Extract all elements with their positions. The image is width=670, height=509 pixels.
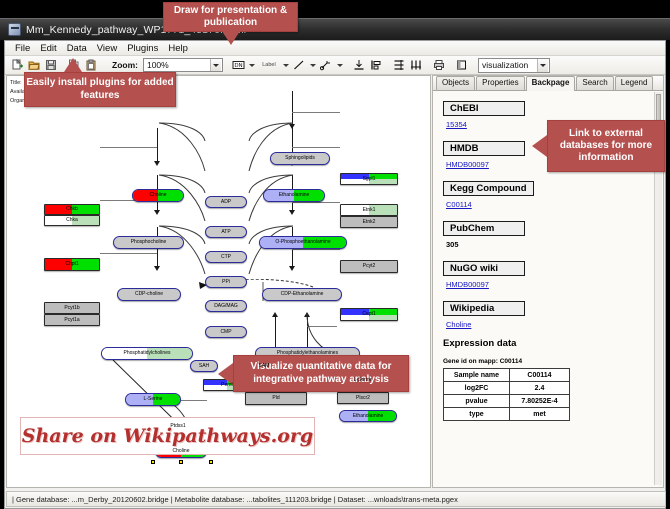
menu-item-data[interactable]: Data [62,42,92,55]
tab-properties[interactable]: Properties [476,76,524,90]
expression-value: 7.80252E-4 [510,395,570,408]
database-link[interactable]: Choline [446,320,663,329]
callout-plugins-arrow [64,58,82,72]
metabolite-label: SAM [259,364,270,369]
expression-table: Sample nameC00114log2FC2.4pvalue7.80252E… [443,368,570,421]
app-icon [8,23,21,36]
edge-chk-to-backbone [100,147,157,148]
align-left-icon[interactable] [369,58,384,73]
metabolite-node[interactable]: CTP [205,251,247,263]
gene-node[interactable]: Etnk2 [340,216,398,228]
status-bar: | Gene database: ...m_Derby_20120602.bri… [6,491,666,507]
open-file-icon[interactable] [26,58,41,73]
gene-node[interactable]: Cept1 [340,308,398,321]
datanode-icon[interactable]: DN [231,58,246,73]
metabolite-label: SAH [199,364,209,369]
gene-node[interactable]: Pld [245,392,307,405]
gene-label: Pcyt2 [363,264,376,269]
zoom-label: Zoom: [112,60,138,70]
line-tool-icon[interactable] [292,58,307,73]
canvas-info-title: Title: [10,80,22,86]
metabolite-label: Choline [150,193,167,198]
table-row: typemet [444,408,570,421]
gene-label: Chka [66,218,78,223]
database-link[interactable]: C00114 [446,200,663,209]
metabolite-node[interactable]: Phosphatidylcholines [101,347,193,360]
callout-plugins: Easily install plugins for added feature… [24,72,176,107]
expression-key: type [444,408,510,421]
edge-pcyt1-to-backbone [100,253,157,254]
chevron-down-icon[interactable] [210,59,221,71]
status-bar-text: | Gene database: ...m_Derby_20120602.bri… [12,495,458,504]
edge-pcyt2-to-backbone [292,202,340,203]
metabolite-node[interactable]: ATP [205,226,247,238]
menu-item-edit[interactable]: Edit [35,42,61,55]
menu-item-file[interactable]: File [10,42,35,55]
edge-lserine-out [181,400,207,401]
gene-label: Sgpl1 [363,177,376,182]
metabolite-node[interactable]: SAH [190,360,218,372]
gene-label: Chkb [66,207,78,212]
gene-node[interactable]: Plscr2 [337,392,389,404]
metabolite-label: Choline [173,449,190,454]
zoom-value: 100% [147,60,169,70]
gene-node[interactable]: Pcyt2 [340,260,398,273]
sidebar-toggle-icon[interactable] [455,58,470,73]
gene-id-line: Gene id on mapp: C00114 [443,358,663,365]
tab-objects[interactable]: Objects [436,76,475,90]
table-row: Sample nameC00114 [444,369,570,382]
metabolite-label: PPi [222,280,230,285]
expression-value: 2.4 [510,382,570,395]
metabolite-label: DAG/MAG [214,304,238,309]
expression-value: C00114 [510,369,570,382]
distribute-vertical-icon[interactable] [392,58,407,73]
edge-etnk-to-backbone [292,147,340,148]
table-row: pvalue7.80252E-4 [444,395,570,408]
menu-item-view[interactable]: View [92,42,122,55]
gene-node[interactable]: Pcyt1a [44,314,100,326]
anchor-dropdown-icon[interactable] [336,58,344,72]
print-icon[interactable] [432,58,447,73]
label-dropdown-icon[interactable] [282,58,290,72]
line-dropdown-icon[interactable] [309,58,317,72]
callout-link: Link to external databases for more info… [547,120,665,172]
metabolite-label: L-Serine [354,378,373,383]
metabolite-node[interactable]: CDP-choline [117,288,181,301]
chevron-down-icon-2[interactable] [537,59,548,72]
gene-node[interactable]: Chpt1 [44,258,100,271]
menu-item-help[interactable]: Help [163,42,193,55]
expression-key: log2FC [444,382,510,395]
metabolite-node[interactable]: Sphingolipids [270,152,330,165]
metabolite-label: Phosphatidylethanolamines [277,351,338,356]
gene-label: Pcyt1a [64,318,79,323]
expression-value: met [510,408,570,421]
tab-search[interactable]: Search [576,76,613,90]
gene-node[interactable]: Pcyt1b [44,302,100,314]
metabolite-node[interactable]: ADP [205,196,247,208]
distribute-horizontal-icon[interactable] [409,58,424,73]
metabolite-label: L-Serine [144,397,163,402]
metabolite-node[interactable]: Ethanolamine [339,410,397,422]
database-label: NuGO wiki [443,261,525,276]
metabolite-label: Phosphocholine [131,240,167,245]
paste-icon[interactable] [83,58,98,73]
metabolite-node[interactable]: O-Phosphoethanolamine [259,236,347,249]
metabolite-node[interactable]: Ethanolamine [263,189,325,202]
tab-legend[interactable]: Legend [615,76,654,90]
canvas-info-availability: Availa [10,89,25,95]
anchor-tool-icon[interactable] [319,58,334,73]
zoom-combobox[interactable]: 100% [143,58,223,72]
metabolite-node[interactable]: DAG/MAG [205,300,247,312]
database-label: Kegg Compound [443,181,534,196]
resize-handle[interactable] [179,460,183,464]
gene-label: Plscr2 [356,396,370,401]
menubar: File Edit Data View Plugins Help [5,41,665,56]
metabolite-label: ATP [221,230,230,235]
expression-key: Sample name [444,369,510,382]
gene-node[interactable]: Chka [44,215,100,226]
metabolite-label: CDP-choline [135,292,163,297]
metabolite-node[interactable]: PPi [205,276,247,288]
datanode-dropdown-icon[interactable] [248,58,256,72]
visualization-value: visualization [482,60,528,70]
metabolite-label: O-Phosphoethanolamine [275,240,330,245]
label-tool-icon[interactable]: Label [258,58,280,73]
resize-handle[interactable] [209,460,213,464]
gene-label: Etnk2 [363,220,376,225]
gene-label: Pld [272,396,279,401]
gene-label: Pcyt1b [64,306,79,311]
metabolite-node[interactable]: CDP-Ethanolamine [262,288,342,301]
metabolite-label: Ethanolamine [353,414,384,419]
visualization-combobox[interactable]: visualization [478,58,550,73]
metabolite-label: Ethanolamine [279,193,310,198]
tab-backpage[interactable]: Backpage [526,76,576,91]
arrow-pe-up [272,312,278,317]
edge-sgpl1-to-backbone [292,112,340,113]
gene-node[interactable]: Etnk1 [340,204,398,216]
metabolite-label: ADP [221,200,231,205]
gene-node[interactable]: Sgpl1 [340,173,398,185]
table-row: log2FC2.4 [444,382,570,395]
gene-label: Chpt1 [65,262,78,267]
metabolite-label: CMP [220,330,231,335]
resize-handle[interactable] [151,460,155,464]
database-label: PubChem [443,221,525,236]
expression-data-heading: Expression data [443,338,663,349]
svg-text:DN: DN [234,63,242,69]
save-file-icon[interactable] [43,58,58,73]
side-panel-tabs: Objects Properties Backpage Search Legen… [433,76,663,91]
database-label: Wikipedia [443,301,525,316]
callout-draw-arrow [222,31,240,45]
callout-visualize: Visualize quantitative data for integrat… [233,355,409,392]
gene-node[interactable]: Chkb [44,204,100,215]
edge-cept1-to-backbone [292,249,340,250]
share-text: Share on Wikipathways.org [22,425,313,447]
database-label: HMDB [443,141,525,156]
metabolite-node[interactable]: L-Serine [125,393,181,406]
expression-key: pvalue [444,395,510,408]
window-titlebar: Mm_Kennedy_pathway_WP1771_45176.gpml [0,18,670,40]
metabolite-label: CDP-Ethanolamine [281,292,324,297]
metabolite-node[interactable]: Choline [132,189,184,202]
gene-label: Ptdss1 [170,424,185,429]
gene-label: Pemt [221,383,233,388]
metabolite-label: Sphingolipids [285,156,315,161]
callout-draw: Draw for presentation & publication [163,2,298,32]
metabolite-node[interactable]: Phosphocholine [113,236,184,249]
menu-item-plugins[interactable]: Plugins [122,42,163,55]
new-file-icon[interactable] [9,58,24,73]
database-value: 305 [446,240,663,249]
callout-share: Share on Wikipathways.org [20,417,315,455]
gene-label: Cept1 [362,312,375,317]
database-label: ChEBI [443,101,525,116]
metabolite-node[interactable]: CMP [205,326,247,338]
metabolite-label: CTP [221,255,231,260]
align-bottom-icon[interactable] [352,58,367,73]
callout-link-arrow [532,135,547,157]
database-link[interactable]: HMDB00097 [446,280,663,289]
metabolite-label: Phosphatidylcholines [124,351,171,356]
gene-label: Etnk1 [363,208,376,213]
